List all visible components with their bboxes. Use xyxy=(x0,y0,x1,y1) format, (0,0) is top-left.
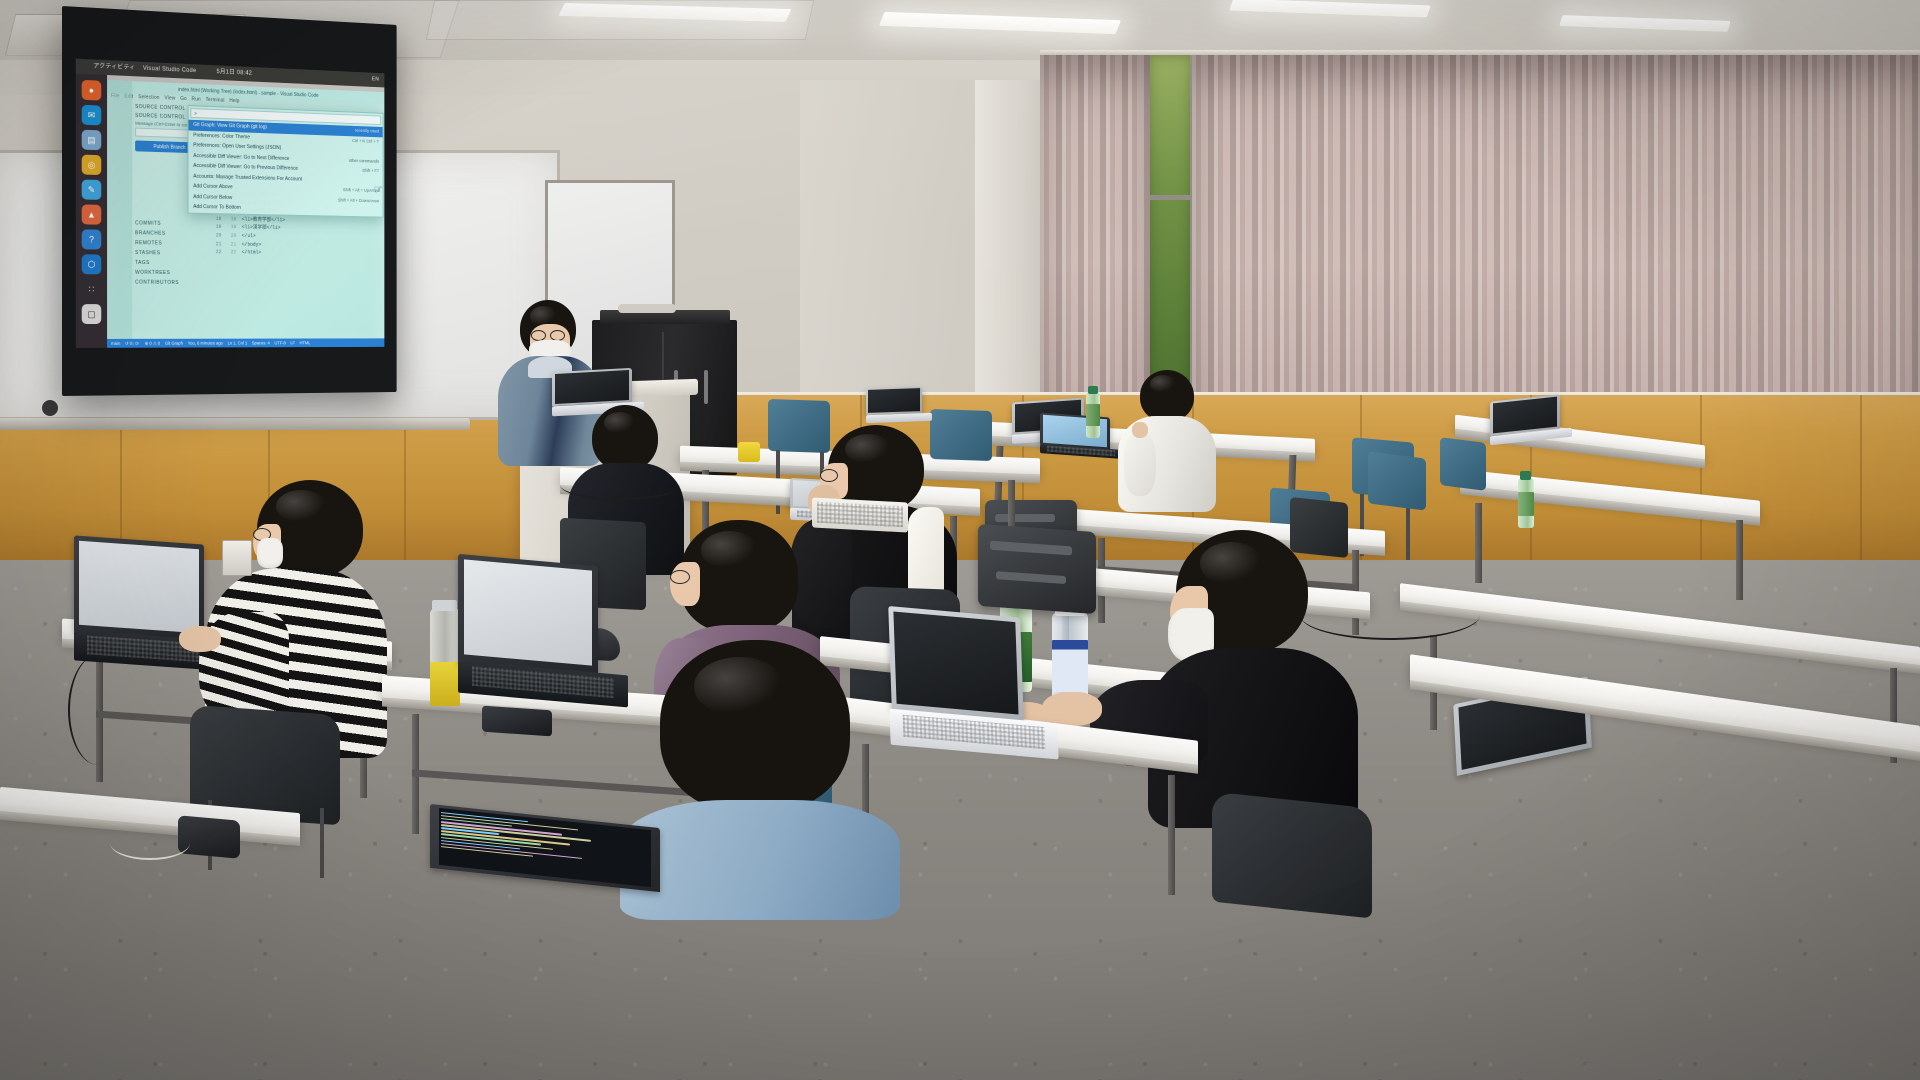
line-number-right: 21 xyxy=(227,240,236,248)
menu-view[interactable]: View xyxy=(164,95,175,101)
chair-far-right-2[interactable] xyxy=(1440,437,1486,491)
chair-far-right[interactable] xyxy=(1368,451,1426,510)
status-language[interactable]: HTML xyxy=(300,340,311,345)
student-1-hand xyxy=(179,626,221,652)
tree-item-commits[interactable]: COMMITS xyxy=(135,220,206,227)
status-spaces[interactable]: Spaces: 4 xyxy=(252,341,270,346)
status-eol[interactable]: LF xyxy=(290,340,295,345)
student-4-glasses xyxy=(820,469,838,482)
student-5-hand xyxy=(1132,422,1148,438)
vscode-status-bar: main ↺ 0↓ 0↑ ⊗ 0 ⚠ 0 Git Graph You, 6 mi… xyxy=(107,338,384,347)
terminal-icon[interactable]: ▢ xyxy=(82,304,102,324)
software-center-icon[interactable]: ▲ xyxy=(82,204,102,224)
vscode-icon[interactable]: ⬡ xyxy=(82,254,102,274)
laptop-lid xyxy=(74,535,204,640)
desk-leg xyxy=(1475,503,1482,583)
smartphone-on-desk[interactable] xyxy=(482,706,552,737)
status-encoding[interactable]: UTF-8 xyxy=(274,340,285,345)
line-number-right: 19 xyxy=(227,223,236,232)
show-apps-icon[interactable]: ∷ xyxy=(82,279,102,299)
laptop-lid xyxy=(888,606,1024,722)
status-sync[interactable]: ↺ 0↓ 0↑ xyxy=(125,340,140,346)
menu-go[interactable]: Go xyxy=(180,96,187,102)
line-number-right: 22 xyxy=(227,249,236,257)
person-student-5 xyxy=(1118,370,1218,500)
palette-item-keys: Shift + F7 xyxy=(362,166,379,176)
code-text: </body> xyxy=(242,240,261,249)
person-student-7 xyxy=(630,640,890,900)
student-7-head xyxy=(660,640,850,812)
line-number-left: 19 xyxy=(212,223,221,232)
mouse-pointer-hand-icon: ☞ xyxy=(373,182,384,196)
projection-screen: アクティビティ Visual Studio Code 5月1日 08:42 EN… xyxy=(62,6,397,396)
chair-leg xyxy=(320,808,324,878)
student-3-face xyxy=(670,562,700,606)
window-foliage xyxy=(1148,55,1192,385)
bottle-cap xyxy=(1520,471,1531,480)
menu-terminal[interactable]: Terminal xyxy=(206,97,225,104)
bottle-liquid xyxy=(430,662,460,706)
laptop-screen xyxy=(555,370,629,404)
wall-power-outlet[interactable] xyxy=(222,540,252,576)
person-student-6 xyxy=(1148,530,1363,830)
student-2-head xyxy=(592,405,658,471)
student-1-face-mask xyxy=(257,538,283,568)
laptop-screen xyxy=(868,388,920,413)
student-5-head xyxy=(1140,370,1194,422)
power-cable-floor-2 xyxy=(560,470,680,500)
projected-desktop: アクティビティ Visual Studio Code 5月1日 08:42 EN… xyxy=(76,59,385,348)
status-line-col[interactable]: Ln 1, Col 1 xyxy=(228,341,248,346)
tree-item-worktrees[interactable]: WORKTREES xyxy=(135,270,206,277)
menu-help[interactable]: Help xyxy=(229,98,239,104)
tree-item-branches[interactable]: BRANCHES xyxy=(135,230,206,237)
bottle-label xyxy=(1518,492,1534,516)
text-editor-icon[interactable]: ✎ xyxy=(82,180,102,200)
line-number-left: 22 xyxy=(212,248,221,256)
line-number-left: 18 xyxy=(212,215,221,224)
chair-student-6[interactable] xyxy=(1212,792,1372,919)
tree-item-remotes[interactable]: REMOTES xyxy=(135,240,206,247)
line-number-left: 21 xyxy=(212,240,221,249)
command-palette[interactable]: > Git Graph: View Git Graph (git log) re… xyxy=(188,105,384,217)
tree-item-tags[interactable]: TAGS xyxy=(135,260,206,267)
power-cable-floor-3 xyxy=(68,655,128,765)
status-git-graph[interactable]: Git Graph xyxy=(165,341,183,346)
yellow-snack-bottle xyxy=(738,442,760,462)
curtain-right-panel xyxy=(1192,55,1920,410)
earphone-cable xyxy=(110,826,190,860)
menu-run[interactable]: Run xyxy=(192,96,201,102)
diff-line: 22 22 </html> xyxy=(212,248,384,259)
menu-selection[interactable]: Selection xyxy=(138,94,159,101)
cable-coil xyxy=(618,304,676,313)
code-text: </ul> xyxy=(242,232,256,241)
os-clock: 5月1日 08:42 xyxy=(217,65,253,81)
os-tray[interactable]: EN xyxy=(372,73,379,88)
student-3-glasses xyxy=(670,570,690,584)
student-7-torso xyxy=(620,800,900,920)
window-mullion xyxy=(1148,195,1192,200)
status-branch[interactable]: main xyxy=(111,341,120,346)
laptop-screen xyxy=(79,541,199,634)
files-icon[interactable]: ▤ xyxy=(82,130,102,151)
vscode-activity-bar xyxy=(107,80,132,348)
student-5-arm xyxy=(1124,432,1156,496)
source-control-tree: COMMITS BRANCHES REMOTES STASHES TAGS WO… xyxy=(132,220,206,286)
firefox-icon[interactable]: ● xyxy=(82,80,102,101)
desk-leg xyxy=(1168,775,1175,895)
whiteboard-marker-tray xyxy=(0,418,470,430)
bottle-label xyxy=(1086,404,1100,426)
laptop-screen xyxy=(894,612,1019,715)
classroom-scene: アクティビティ Visual Studio Code 5月1日 08:42 EN… xyxy=(0,0,1920,1080)
status-problems[interactable]: ⊗ 0 ⚠ 0 xyxy=(145,340,160,346)
thunderbird-icon[interactable]: ✉ xyxy=(82,105,102,126)
palette-item-label: Add Cursor To Bottom xyxy=(193,202,241,213)
desk-leg xyxy=(1736,520,1743,600)
tree-item-contributors[interactable]: CONTRIBUTORS xyxy=(135,280,206,286)
line-number-right: 18 xyxy=(227,215,236,224)
active-app-label: Visual Studio Code xyxy=(143,62,197,79)
ubuntu-dock: ● ✉ ▤ ◎ ✎ ▲ ? ⬡ ∷ ▢ xyxy=(76,74,107,348)
vscode-window: index.html (Working Tree) (index.html) -… xyxy=(107,80,384,348)
rhythmbox-icon[interactable]: ◎ xyxy=(82,155,102,175)
tree-item-stashes[interactable]: STASHES xyxy=(135,250,206,257)
status-commit-info: You, 6 minutes ago xyxy=(188,341,223,346)
code-text: </html> xyxy=(242,249,261,258)
curtain-left-panel xyxy=(1040,55,1150,400)
bottle-cap xyxy=(1088,386,1098,394)
bottle-label xyxy=(1052,640,1088,692)
line-number-right: 20 xyxy=(227,232,236,240)
help-icon[interactable]: ? xyxy=(82,229,102,249)
line-number-left: 20 xyxy=(212,232,221,241)
laptop-lid xyxy=(552,368,632,406)
backpack-floor-2 xyxy=(978,524,1096,614)
bottle-cap xyxy=(432,600,457,611)
laptop-screen xyxy=(1493,396,1557,433)
power-cable-floor xyxy=(1300,590,1480,640)
laptop-lid xyxy=(458,554,598,674)
laptop-lid xyxy=(866,387,922,415)
laptop-screen xyxy=(464,560,593,666)
screen-pull-knob xyxy=(42,400,58,416)
